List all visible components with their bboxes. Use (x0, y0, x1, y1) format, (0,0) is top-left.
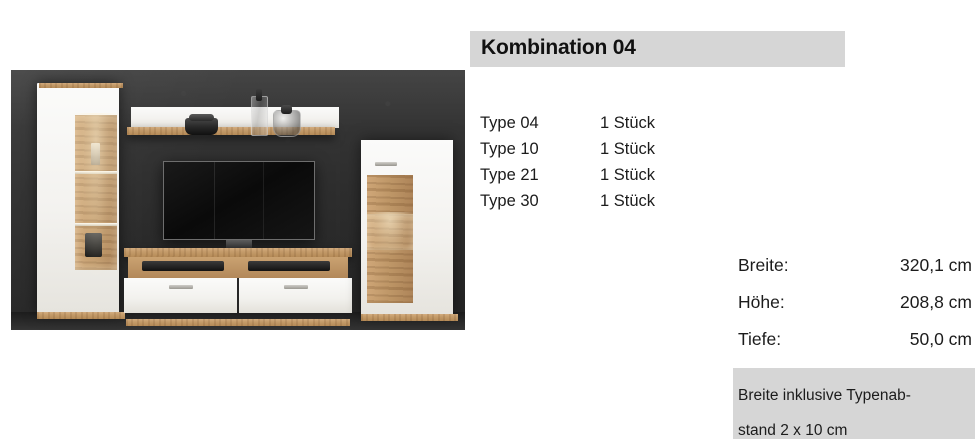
left-cabinet-decor-vase (85, 233, 102, 257)
dimension-value: 50,0 cm (781, 329, 975, 350)
lowboard-drawer-right-handle (284, 285, 308, 289)
lowboard-drawers (124, 278, 352, 313)
type-quantity: 1 Stück (600, 188, 740, 214)
type-list-row: Type 30 1 Stück (480, 188, 740, 214)
dimension-label: Breite: (733, 255, 789, 276)
lowboard-soundbar-left (142, 261, 224, 271)
dimension-value: 320,1 cm (789, 255, 975, 276)
decor-bowl (185, 118, 218, 135)
dimensions-note-line-1: Breite inklusive Typenab- (738, 378, 970, 413)
type-name: Type 04 (480, 110, 600, 136)
dimension-row-depth: Tiefe: 50,0 cm (733, 329, 975, 366)
type-list: Type 04 1 Stück Type 10 1 Stück Type 21 … (480, 110, 740, 214)
dimensions-note: Breite inklusive Typenab- stand 2 x 10 c… (733, 368, 975, 439)
left-cabinet-shelf-1 (75, 171, 117, 174)
right-cabinet-led-glow (365, 212, 415, 254)
type-list-row: Type 21 1 Stück (480, 162, 740, 188)
lowboard-top-slab (124, 248, 352, 257)
dimension-label: Tiefe: (733, 329, 781, 350)
type-quantity: 1 Stück (600, 110, 740, 136)
type-name: Type 30 (480, 188, 600, 214)
wall-shelf (131, 107, 339, 135)
right-cabinet-plinth (361, 314, 458, 321)
left-cabinet-shelf-2 (75, 223, 117, 226)
lowboard-drawer-left-handle (169, 285, 193, 289)
type-quantity: 1 Stück (600, 136, 740, 162)
right-cabinet-handle (375, 162, 397, 166)
tv-screen-glare-right (263, 162, 264, 239)
left-cabinet-decor-glass (91, 143, 100, 165)
dimensions-note-line-2: stand 2 x 10 cm (738, 413, 970, 448)
page-title: Kombination 04 (481, 36, 636, 60)
dimension-row-width: Breite: 320,1 cm (733, 255, 975, 292)
product-image (11, 70, 465, 330)
type-list-row: Type 10 1 Stück (480, 136, 740, 162)
lowboard-drawer-right (239, 278, 352, 313)
tv-lowboard (124, 248, 352, 320)
tv-screen-glare-left (214, 162, 215, 239)
dimension-label: Höhe: (733, 292, 785, 313)
tv-screen (163, 161, 315, 240)
type-name: Type 10 (480, 136, 600, 162)
lowboard-soundbar-right (248, 261, 330, 271)
left-tall-cabinet (37, 83, 119, 313)
dimension-row-height: Höhe: 208,8 cm (733, 292, 975, 329)
lowboard-drawer-left (124, 278, 237, 313)
wall-shelf-top (127, 127, 335, 135)
dimensions-table: Breite: 320,1 cm Höhe: 208,8 cm Tiefe: 5… (733, 255, 975, 366)
dimension-value: 208,8 cm (785, 292, 975, 313)
left-cabinet-top-lip (39, 83, 123, 88)
type-list-row: Type 04 1 Stück (480, 110, 740, 136)
decor-tall-glass (251, 96, 268, 136)
lowboard-plinth (126, 319, 350, 326)
wall-shelf-panel (131, 107, 339, 128)
type-name: Type 21 (480, 162, 600, 188)
right-cabinet (361, 140, 453, 315)
type-quantity: 1 Stück (600, 162, 740, 188)
left-cabinet-plinth (37, 312, 125, 319)
decor-round-glass (273, 110, 301, 137)
television (163, 161, 315, 240)
